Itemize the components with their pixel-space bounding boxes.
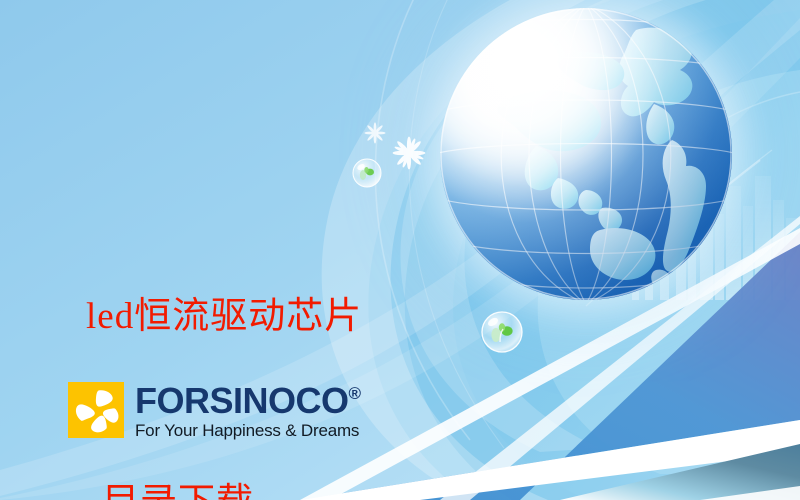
brand-tagline: For Your Happiness & Dreams: [135, 421, 361, 441]
title-line-1: led恒流驱动芯片: [86, 286, 362, 348]
brand-name: FORSINOCO: [135, 383, 349, 419]
title-line-2: 目录下载: [102, 472, 362, 500]
company-logo[interactable]: FORSINOCO ® For Your Happiness & Dreams: [68, 382, 361, 441]
earth-globe: [440, 8, 732, 300]
banner-canvas: led恒流驱动芯片 目录下载 FORSINOCO ® For Your Happ…: [0, 0, 800, 500]
flower-sparkle-large: [392, 136, 426, 175]
brand-wordmark: FORSINOCO ®: [135, 383, 361, 419]
flower-sparkle-small: [364, 122, 386, 149]
registered-trademark-icon: ®: [349, 383, 361, 402]
logo-text-block: FORSINOCO ® For Your Happiness & Dreams: [135, 382, 361, 441]
forsinoco-pinwheel-icon: [68, 382, 124, 438]
sprout-bubble-right: [480, 310, 524, 359]
page-title: led恒流驱动芯片 目录下载: [86, 162, 362, 500]
